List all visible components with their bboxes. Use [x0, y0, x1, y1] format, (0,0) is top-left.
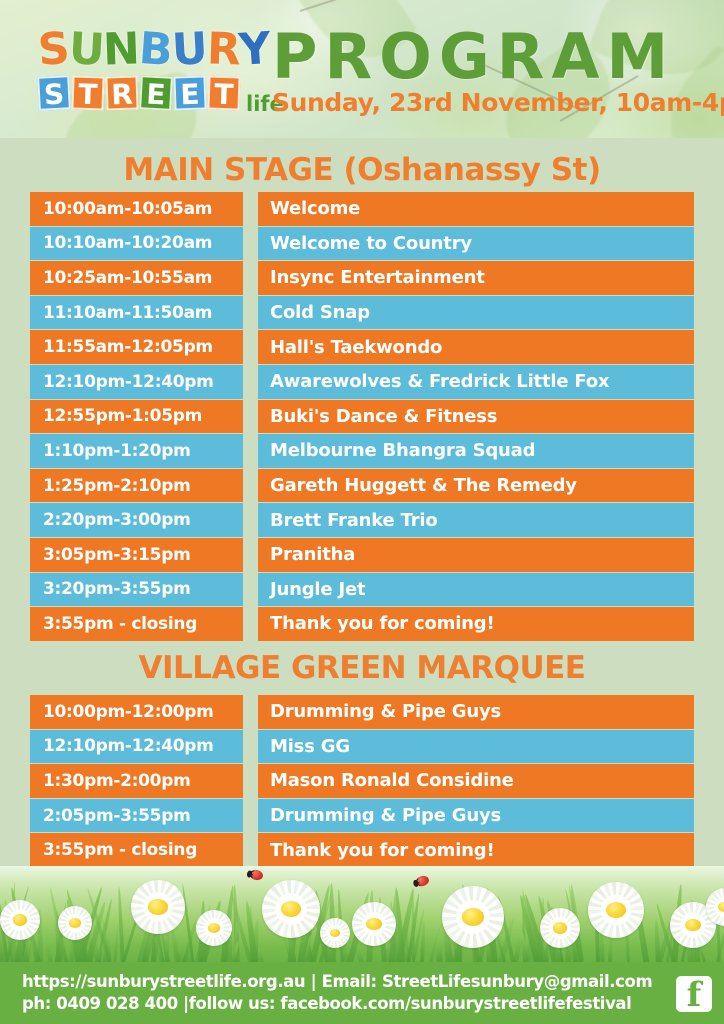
cell-time: 3:20pm-3:55pm: [30, 573, 243, 607]
logo-letter: S: [36, 25, 70, 75]
daisy-flower: [0, 900, 40, 940]
cell-performance: Drumming & Pipe Guys: [258, 799, 694, 833]
daisy-centre: [606, 902, 626, 918]
cell-performance: Jungle Jet: [258, 573, 694, 607]
cell-performance: Welcome to Country: [258, 227, 694, 261]
cell-performance: Cold Snap: [258, 296, 694, 330]
cell-time: 2:20pm-3:00pm: [30, 503, 243, 537]
logo-letter: N: [103, 25, 140, 74]
cell-performance: Buki's Dance & Fitness: [258, 400, 694, 434]
cell-performance: Gareth Huggett & The Remedy: [258, 469, 694, 503]
logo-tile: R: [105, 75, 138, 110]
daisy-flower: [352, 902, 396, 946]
cell-performance: Insync Entertainment: [258, 261, 694, 295]
poster-footer: https://sunburystreetlife.org.au | Email…: [0, 962, 724, 1024]
daisy-centre: [148, 899, 167, 914]
table-row: 1:30pm-2:00pmMason Ronald Considine: [30, 764, 694, 798]
cell-time: 12:55pm-1:05pm: [30, 400, 243, 434]
table-row: 12:10pm-12:40pmAwarewolves & Fredrick Li…: [30, 365, 694, 399]
logo-letter: U: [171, 25, 208, 75]
logo-tile: E: [173, 75, 206, 110]
cell-time: 1:25pm-2:10pm: [30, 469, 243, 503]
cell-performance: Awarewolves & Fredrick Little Fox: [258, 365, 694, 399]
logo-letter: Y: [238, 25, 272, 75]
cell-time: 10:25am-10:55am: [30, 261, 243, 295]
logo-tile: E: [139, 75, 173, 111]
table-row: 10:25am-10:55amInsync Entertainment: [30, 261, 694, 295]
logo-street-row: STREET life: [38, 76, 278, 119]
cell-time: 3:55pm - closing: [30, 607, 243, 641]
facebook-glyph: f: [687, 978, 702, 1012]
cell-time: 12:10pm-12:40pm: [30, 365, 243, 399]
cell-performance: Brett Franke Trio: [258, 503, 694, 537]
cell-time: 10:00am-10:05am: [30, 192, 243, 226]
daisy-flower: [58, 906, 92, 940]
logo-sunbury-text: SUNBURY: [38, 26, 278, 74]
table-row: 12:10pm-12:40pmMiss GG: [30, 730, 694, 764]
logo-letter: B: [138, 25, 174, 75]
daisy-centre: [462, 908, 484, 925]
daisy-centre: [13, 914, 27, 925]
cell-time: 2:05pm-3:55pm: [30, 799, 243, 833]
logo-tile: T: [207, 75, 240, 110]
table-row: 3:05pm-3:15pmPranitha: [30, 538, 694, 572]
daisy-flower: [262, 880, 320, 938]
footer-line-website-email[interactable]: https://sunburystreetlife.org.au | Email…: [22, 971, 652, 993]
table-row: 10:10am-10:20amWelcome to Country: [30, 227, 694, 261]
daisy-flower: [131, 880, 185, 934]
cell-performance: Miss GG: [258, 730, 694, 764]
section-heading-village-green: VILLAGE GREEN MARQUEE: [0, 650, 724, 686]
daisy-flower: [196, 910, 232, 946]
cell-performance: Mason Ronald Considine: [258, 764, 694, 798]
daisy-centre: [366, 918, 382, 930]
cell-performance: Welcome: [258, 192, 694, 226]
grass-daisy-border: [0, 866, 724, 966]
sunbury-street-life-logo[interactable]: SUNBURY STREET life: [38, 26, 278, 120]
logo-letter: U: [67, 25, 104, 75]
page-title: PROGRAM: [272, 20, 675, 93]
cell-time: 11:10am-11:50am: [30, 296, 243, 330]
cell-performance: Melbourne Bhangra Squad: [258, 434, 694, 468]
daisy-flower: [320, 918, 350, 948]
section-heading-main-stage: MAIN STAGE (Oshanassy St): [0, 152, 724, 188]
schedule-table-village-green: 10:00pm-12:00pmDrumming & Pipe Guys12:10…: [30, 695, 694, 868]
event-date: Sunday, 23rd November, 10am-4pm: [272, 88, 724, 117]
table-row: 1:10pm-1:20pmMelbourne Bhangra Squad: [30, 434, 694, 468]
footer-contact-text: https://sunburystreetlife.org.au | Email…: [22, 971, 652, 1015]
table-row: 3:55pm - closingThank you for coming!: [30, 607, 694, 641]
cell-performance: Thank you for coming!: [258, 607, 694, 641]
cell-time: 3:55pm - closing: [30, 833, 243, 867]
table-row: 10:00pm-12:00pmDrumming & Pipe Guys: [30, 695, 694, 729]
daisy-flower: [588, 882, 644, 938]
logo-letter: R: [206, 25, 241, 74]
daisy-centre: [553, 922, 567, 933]
daisy-centre: [69, 918, 81, 928]
cell-performance: Hall's Taekwondo: [258, 330, 694, 364]
cell-performance: Pranitha: [258, 538, 694, 572]
table-row: 3:55pm - closingThank you for coming!: [30, 833, 694, 867]
logo-tile: T: [71, 75, 104, 110]
table-row: 11:10am-11:50amCold Snap: [30, 296, 694, 330]
cell-time: 1:30pm-2:00pm: [30, 764, 243, 798]
facebook-icon[interactable]: f: [676, 976, 712, 1012]
ladybug-icon: [249, 869, 264, 881]
ladybug-icon: [415, 874, 430, 887]
table-row: 11:55am-12:05pmHall's Taekwondo: [30, 330, 694, 364]
table-row: 1:25pm-2:10pmGareth Huggett & The Remedy: [30, 469, 694, 503]
logo-street-tiles: STREET: [38, 76, 242, 119]
cell-time: 3:05pm-3:15pm: [30, 538, 243, 572]
table-row: 10:00am-10:05amWelcome: [30, 192, 694, 226]
cell-performance: Thank you for coming!: [258, 833, 694, 867]
cell-time: 12:10pm-12:40pm: [30, 730, 243, 764]
cell-time: 10:00pm-12:00pm: [30, 695, 243, 729]
poster-header: SUNBURY STREET life PROGRAM Sunday, 23rd…: [0, 0, 724, 138]
daisy-flower: [442, 886, 504, 948]
table-row: 3:20pm-3:55pmJungle Jet: [30, 573, 694, 607]
daisy-flower: [706, 888, 724, 926]
table-row: 12:55pm-1:05pmBuki's Dance & Fitness: [30, 400, 694, 434]
program-poster: SUNBURY STREET life PROGRAM Sunday, 23rd…: [0, 0, 724, 1024]
grass-blade: [653, 918, 661, 966]
cell-time: 10:10am-10:20am: [30, 227, 243, 261]
schedule-table-main-stage: 10:00am-10:05amWelcome10:10am-10:20amWel…: [30, 192, 694, 642]
table-row: 2:20pm-3:00pmBrett Franke Trio: [30, 503, 694, 537]
table-row: 2:05pm-3:55pmDrumming & Pipe Guys: [30, 799, 694, 833]
cell-performance: Drumming & Pipe Guys: [258, 695, 694, 729]
daisy-flower: [540, 908, 580, 948]
cell-time: 11:55am-12:05pm: [30, 330, 243, 364]
logo-tile: S: [37, 75, 71, 111]
footer-line-phone-facebook[interactable]: ph: 0409 028 400 |follow us: facebook.co…: [22, 993, 652, 1015]
cell-time: 1:10pm-1:20pm: [30, 434, 243, 468]
